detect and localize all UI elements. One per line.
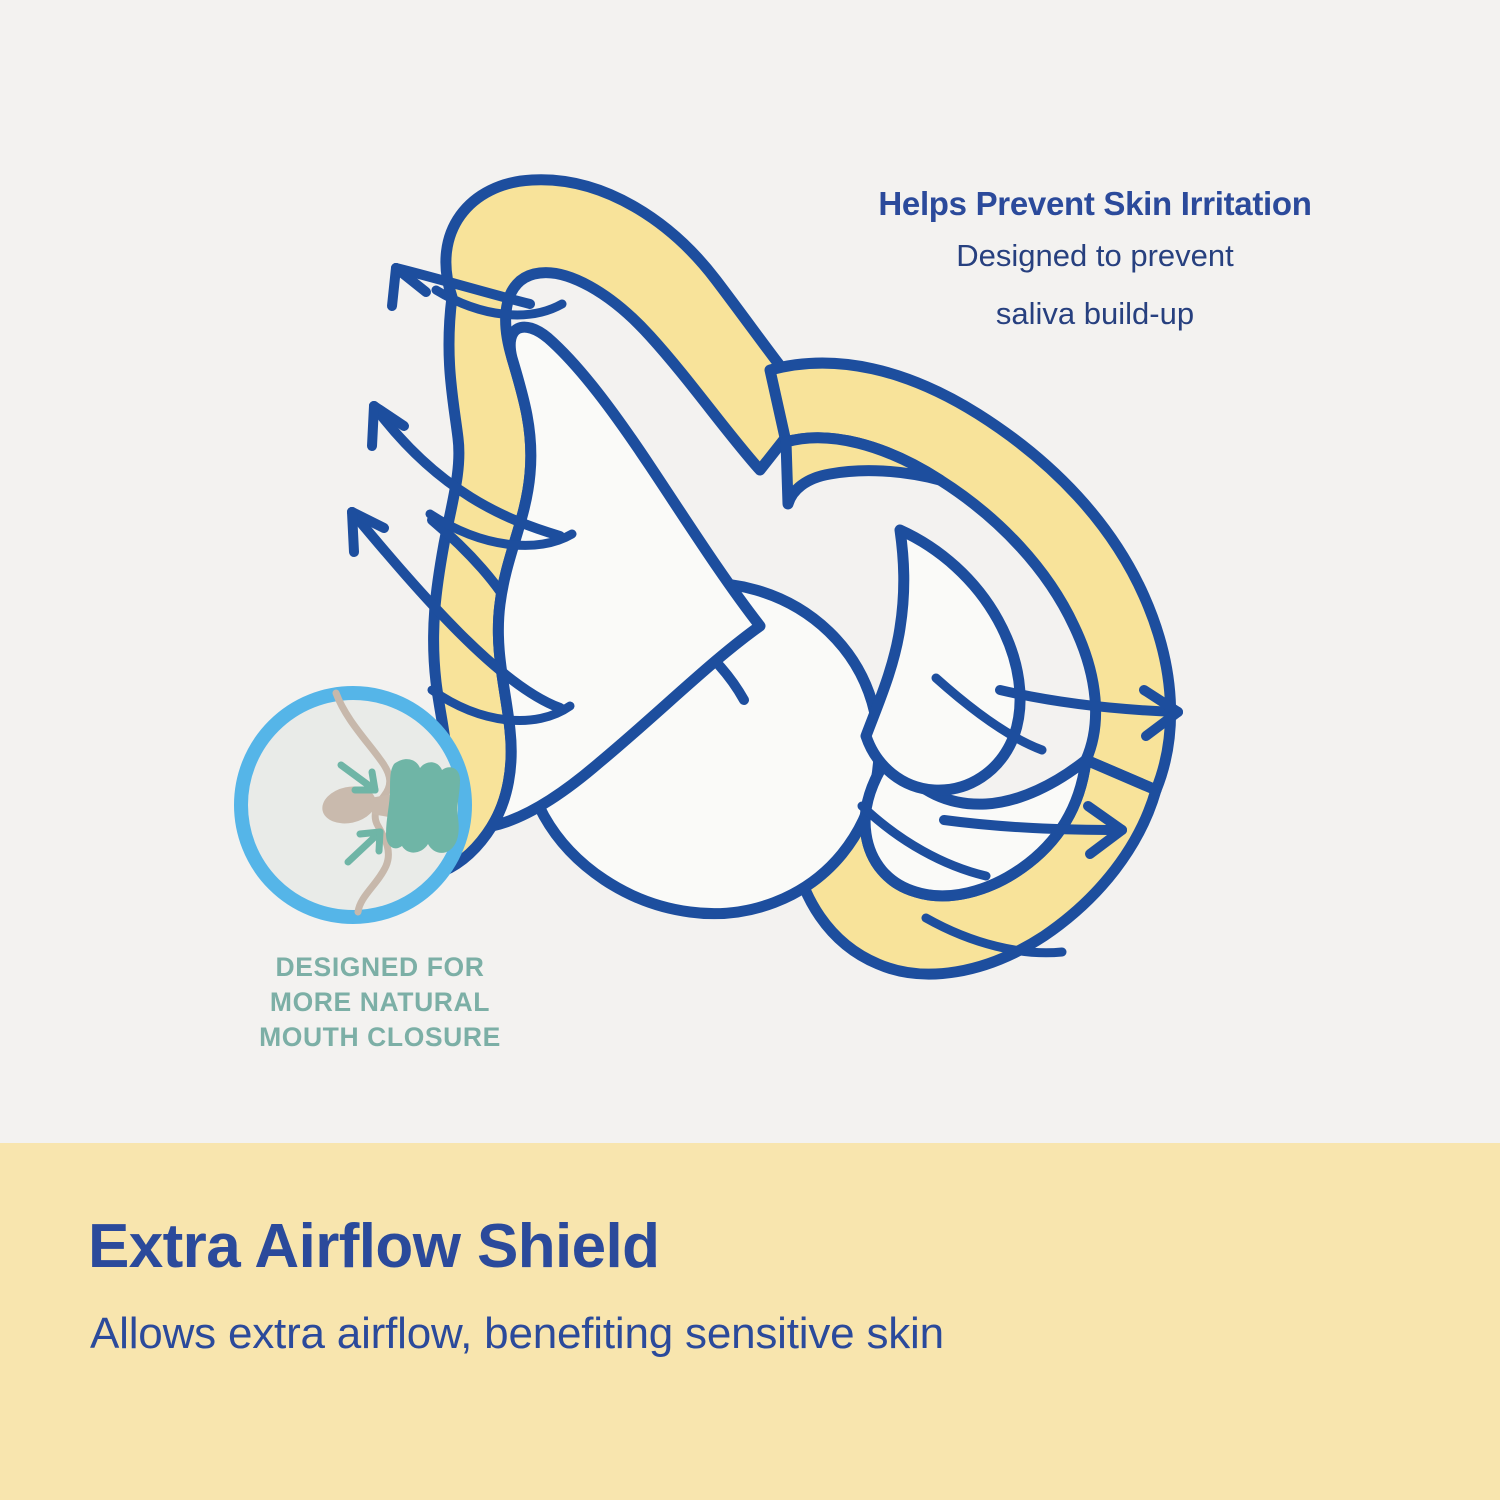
mouth-closure-caption-line-3: MOUTH CLOSURE	[150, 1020, 610, 1055]
product-feature-card: Helps Prevent Skin Irritation Designed t…	[0, 0, 1500, 1500]
inset-pacifier-shield	[386, 759, 460, 853]
mouth-closure-caption-line-2: MORE NATURAL	[150, 985, 610, 1020]
cutout-mid-right	[866, 530, 1020, 790]
skin-irritation-callout: Helps Prevent Skin Irritation Designed t…	[790, 186, 1400, 339]
mouth-closure-inset	[241, 693, 465, 917]
banner-subtitle: Allows extra airflow, benefiting sensiti…	[90, 1309, 944, 1359]
mouth-closure-caption-line-1: DESIGNED FOR	[150, 950, 610, 985]
skin-callout-headline: Helps Prevent Skin Irritation	[790, 186, 1400, 223]
illustration-area: Helps Prevent Skin Irritation Designed t…	[0, 0, 1500, 1143]
skin-callout-subline-1: Designed to prevent	[790, 231, 1400, 281]
feature-banner: Extra Airflow Shield Allows extra airflo…	[0, 1143, 1500, 1500]
mouth-closure-caption: DESIGNED FOR MORE NATURAL MOUTH CLOSURE	[150, 950, 610, 1056]
banner-title: Extra Airflow Shield	[88, 1211, 659, 1282]
skin-callout-subline-2: saliva build-up	[790, 289, 1400, 339]
